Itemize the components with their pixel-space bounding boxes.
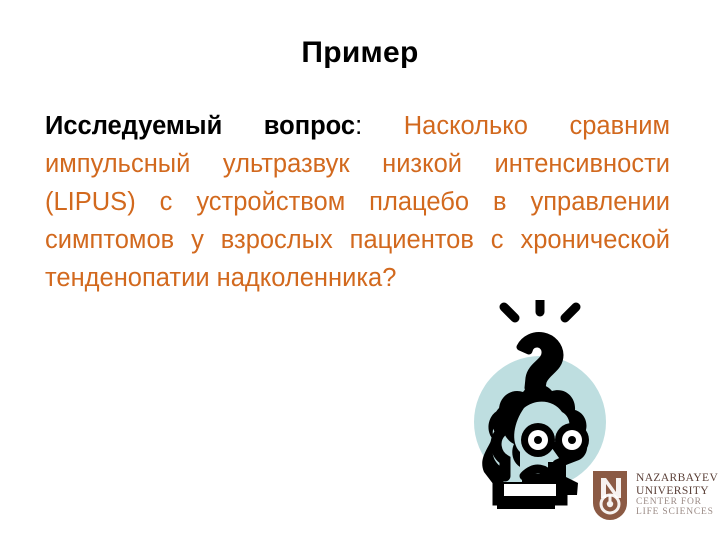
idea-burst-rays — [504, 300, 576, 318]
logo-line-center-for: CENTER FOR — [636, 497, 718, 507]
logo-line-life-sciences: LIFE SCIENCES — [636, 507, 718, 517]
page-title: Пример — [0, 34, 720, 72]
logo-text-block: NAZARBAYEV UNIVERSITY CENTER FOR LIFE SC… — [636, 472, 718, 517]
logo-mark-icon — [590, 469, 630, 521]
logo-line-nazarbayev: NAZARBAYEV — [636, 472, 718, 484]
nazarbayev-university-logo: NAZARBAYEV UNIVERSITY CENTER FOR LIFE SC… — [590, 466, 716, 524]
research-question-label: Исследуемый вопрос — [45, 112, 355, 140]
research-question-colon: : — [355, 112, 362, 140]
research-question-block: Исследуемый вопрос: Насколько сравним им… — [45, 107, 670, 297]
logo-line-university: UNIVERSITY — [636, 485, 718, 497]
slide-canvas: Пример Исследуемый вопрос: Насколько сра… — [0, 0, 720, 540]
